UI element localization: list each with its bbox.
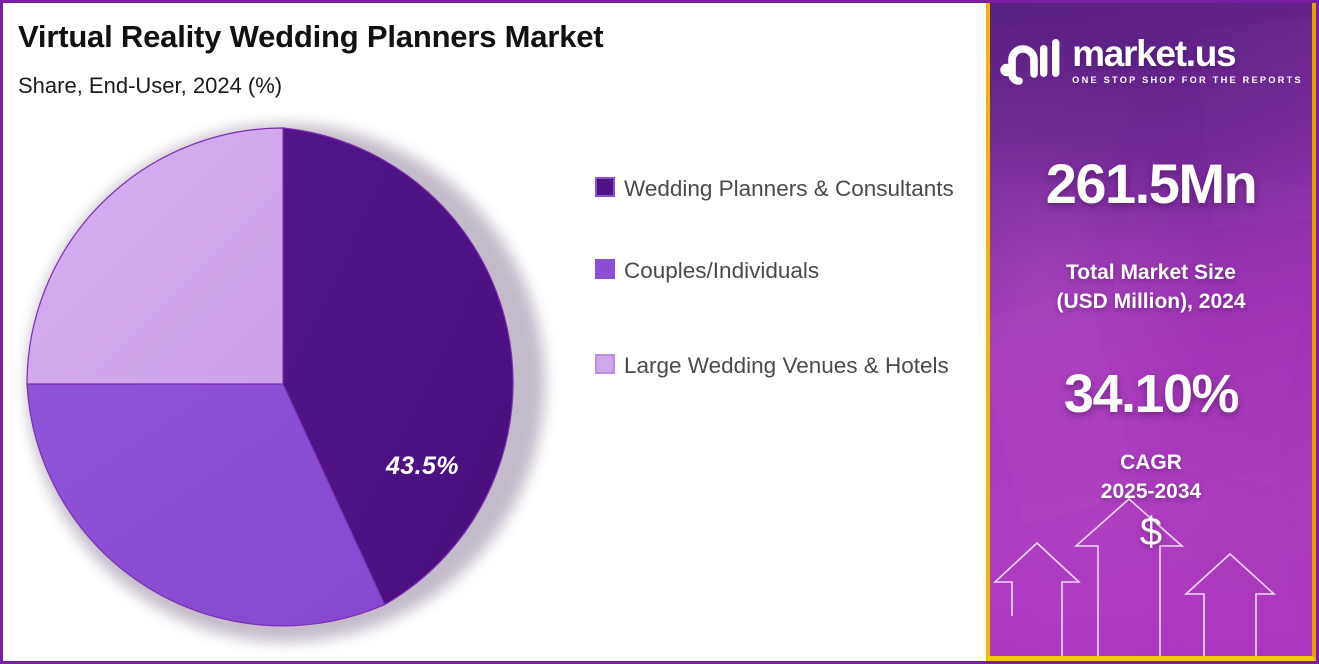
- pie-chart-svg: [21, 116, 561, 656]
- legend-item-couples-individuals[interactable]: Couples/Individuals: [595, 253, 965, 289]
- cagr-caption-line1: CAGR: [990, 449, 1312, 478]
- dollar-sign-icon: $: [1117, 496, 1141, 498]
- market-size-caption-line2: (USD Million), 2024: [990, 288, 1312, 317]
- page-subtitle: Share, End-User, 2024 (%): [18, 73, 282, 99]
- legend-swatch-medium-icon: [595, 259, 615, 279]
- brand-name: market.us: [1072, 36, 1303, 71]
- legend-label-wedding-planners: Wedding Planners & Consultants: [624, 171, 954, 207]
- legend-label-large-venues-hotels: Large Wedding Venues & Hotels: [624, 348, 949, 384]
- legend-item-large-venues-hotels[interactable]: Large Wedding Venues & Hotels: [595, 348, 965, 384]
- market-us-logo-icon: [999, 37, 1061, 85]
- stats-sidebar: market.us ONE STOP SHOP FOR THE REPORTS …: [986, 3, 1316, 661]
- legend-swatch-dark-icon: [595, 177, 615, 197]
- arrow-right-icon: [1186, 554, 1274, 656]
- brand-tagline: ONE STOP SHOP FOR THE REPORTS: [1072, 75, 1303, 85]
- pie-slice-label-43-5: 43.5%: [386, 452, 459, 481]
- legend-swatch-light-icon: [595, 354, 615, 374]
- brand-logo[interactable]: market.us ONE STOP SHOP FOR THE REPORTS: [990, 36, 1312, 85]
- cagr-value: 34.10%: [990, 363, 1312, 425]
- page-title: Virtual Reality Wedding Planners Market: [18, 19, 603, 55]
- chart-panel: Virtual Reality Wedding Planners Market …: [3, 3, 983, 661]
- legend-label-couples-individuals: Couples/Individuals: [624, 253, 819, 289]
- market-size-caption-line1: Total Market Size: [990, 259, 1312, 288]
- pie-chart: 43.5%: [21, 116, 561, 656]
- dollar-symbol: $: [990, 510, 1312, 555]
- market-size-caption: Total Market Size (USD Million), 2024: [990, 259, 1312, 317]
- legend-item-wedding-planners[interactable]: Wedding Planners & Consultants: [595, 171, 965, 207]
- pie-slice-large-venues-hotels[interactable]: [27, 128, 283, 384]
- chart-legend: Wedding Planners & Consultants Couples/I…: [595, 171, 965, 384]
- market-size-value: 261.5Mn: [990, 151, 1312, 216]
- arrow-left-icon: [995, 543, 1079, 656]
- infographic-root: Virtual Reality Wedding Planners Market …: [0, 0, 1319, 664]
